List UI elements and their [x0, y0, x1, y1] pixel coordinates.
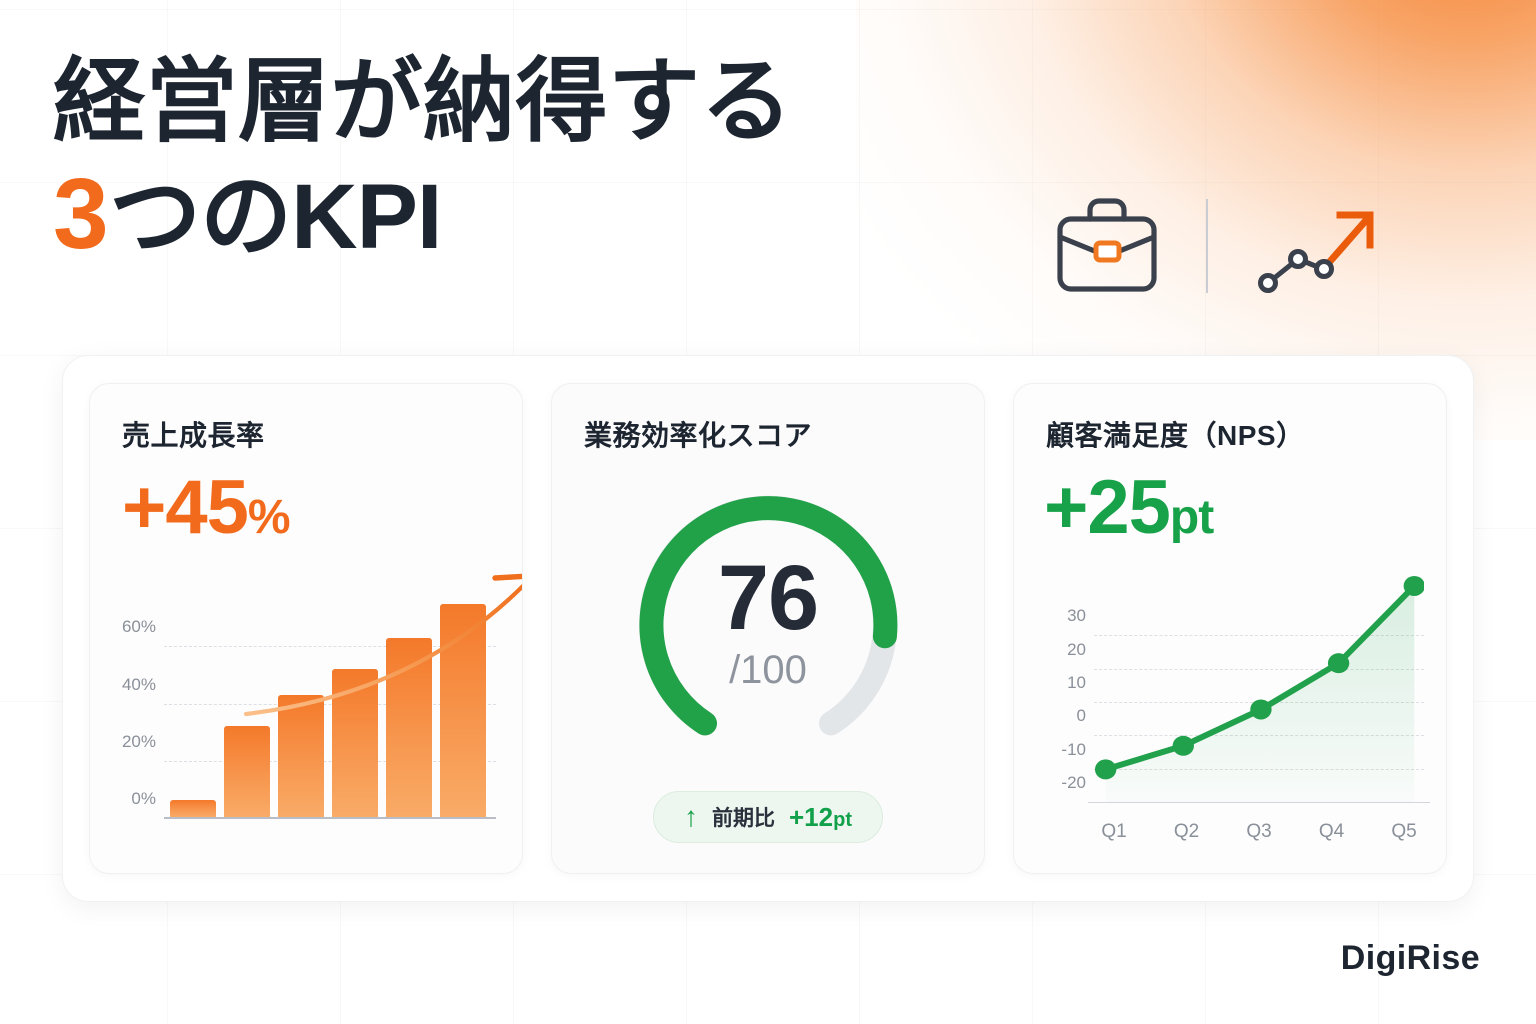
gauge-wrapper: 76 /100 — [552, 476, 984, 768]
card-title-sales-growth: 売上成長率 — [122, 414, 490, 454]
brand-logo: DigiRise — [1341, 939, 1480, 978]
kpi-card-frame: 売上成長率 +45% 60% 40% 20% 0% — [62, 355, 1474, 902]
trending-up-icon — [1246, 186, 1396, 306]
xtick-q4: Q4 — [1312, 821, 1352, 843]
gauge-score-value: 76 — [718, 555, 818, 642]
badge-label: 前期比 — [712, 802, 775, 832]
gauge-score-max: /100 — [729, 648, 807, 693]
line-ytick-10: 10 — [1067, 673, 1086, 693]
sales-growth-unit: % — [248, 491, 290, 544]
arrow-up-icon: ↑ — [684, 803, 698, 831]
line-ytick-m20: -20 — [1061, 773, 1086, 793]
badge-delta: +12pt — [789, 802, 852, 833]
badge-delta-number: +12 — [789, 802, 833, 832]
card-title-nps: 顧客満足度（NPS） — [1046, 414, 1414, 454]
card-title-efficiency-score: 業務効率化スコア — [584, 414, 952, 454]
growth-arrow-icon — [240, 564, 523, 744]
page-title-line1: 経営層が納得する — [53, 48, 793, 156]
bar-ytick-60: 60% — [122, 617, 156, 637]
line-chart-plot: 30 20 10 0 -10 -20 — [1094, 576, 1424, 803]
header-divider — [1206, 199, 1208, 293]
xtick-q5: Q5 — [1384, 821, 1424, 843]
line-ytick-0: 0 — [1077, 706, 1086, 726]
line-markers — [1094, 576, 1424, 803]
xtick-q2: Q2 — [1167, 821, 1207, 843]
bar-ytick-0: 0% — [131, 789, 156, 809]
kpi-card-sales-growth[interactable]: 売上成長率 +45% 60% 40% 20% 0% — [89, 383, 523, 874]
nps-value: +25pt — [1044, 470, 1213, 546]
bar-chart-baseline — [164, 817, 496, 819]
efficiency-gauge: 76 /100 — [622, 476, 914, 768]
bar-item — [170, 800, 216, 817]
badge-delta-unit: pt — [833, 809, 852, 831]
header: 経営層が納得する 3つのKPI — [0, 0, 1536, 350]
sales-growth-number: +45 — [122, 465, 248, 550]
line-chart-xlabels: Q1 Q2 Q3 Q4 Q5 — [1094, 821, 1424, 843]
header-icon-group — [1042, 186, 1396, 306]
sales-growth-value: +45% — [122, 470, 290, 546]
kpi-card-efficiency-score[interactable]: 業務効率化スコア 76 /100 ↑ 前期比 +12pt — [551, 383, 985, 874]
line-chart-axis — [1088, 802, 1430, 803]
kpi-card-nps[interactable]: 顧客満足度（NPS） +25pt 30 20 10 0 -10 -20 — [1013, 383, 1447, 874]
line-ytick-20: 20 — [1067, 640, 1086, 660]
bar-ytick-20: 20% — [122, 732, 156, 752]
briefcase-icon — [1042, 186, 1172, 306]
nps-unit: pt — [1170, 491, 1213, 544]
gauge-center-readout: 76 /100 — [622, 476, 914, 768]
xtick-q3: Q3 — [1239, 821, 1279, 843]
status-badge[interactable]: ↑ 前期比 +12pt — [653, 791, 883, 843]
page-title-line2: 3つのKPI — [53, 160, 793, 271]
page-title-number: 3 — [53, 158, 109, 270]
line-ytick-30: 30 — [1067, 606, 1086, 626]
line-chart: 30 20 10 0 -10 -20 — [1038, 570, 1430, 859]
page-title-rest: つのKPI — [109, 166, 441, 268]
bar-ytick-40: 40% — [122, 675, 156, 695]
line-ytick-m10: -10 — [1061, 740, 1086, 760]
xtick-q1: Q1 — [1094, 821, 1134, 843]
nps-number: +25 — [1044, 465, 1170, 550]
page-title: 経営層が納得する 3つのKPI — [53, 48, 793, 271]
